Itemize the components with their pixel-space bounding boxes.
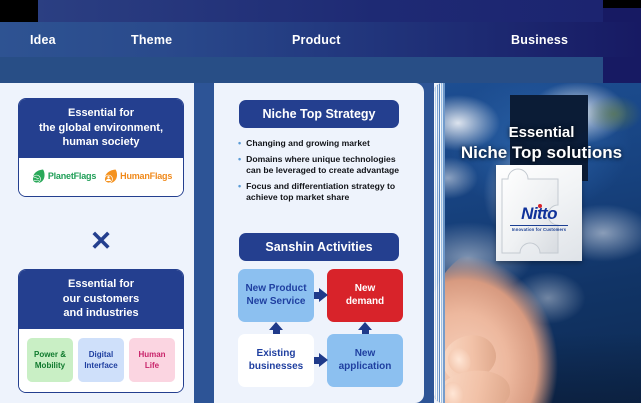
existing-line2: businesses (249, 361, 303, 372)
card-global-title-line3: human society (62, 136, 139, 148)
strategy-bullet-3: Focus and differentiation strategy to ac… (246, 181, 408, 204)
header-top-bar-right-accent (603, 8, 641, 22)
tag-digital-interface-line2: Interface (84, 361, 117, 370)
solutions-title: Essential Niche Top solutions (442, 123, 641, 163)
list-item: • Changing and growing market (238, 138, 408, 150)
card-essential-global-body: PlanetFlags (19, 158, 183, 196)
tag-power-mobility-line2: Mobility (35, 361, 65, 370)
slide-root: Idea Theme Product Business Essential fo… (0, 0, 641, 403)
new-product-line2: New Service (247, 296, 306, 307)
card-essential-global-header: Essential for the global environment, hu… (19, 99, 183, 158)
card-cust-title-line2: our customers (63, 293, 139, 305)
earth-image: Nitto Innovation for Customers Essential… (434, 83, 641, 403)
tag-human-life-line1: Human (138, 350, 165, 359)
nav-item-product-label: Product (292, 33, 341, 47)
new-application-line1: New (355, 348, 376, 359)
matrix-box-new-application: New application (327, 334, 403, 387)
card-global-title-line2: the global environment, (39, 122, 163, 134)
matrix-box-existing-businesses: Existing businesses (238, 334, 314, 387)
panel-solutions: Nitto Innovation for Customers Essential… (434, 83, 641, 403)
niche-top-strategy-pill: Niche Top Strategy (239, 100, 399, 128)
card-cust-title-line1: Essential for (68, 278, 134, 290)
nav-item-idea-label: Idea (30, 33, 56, 47)
nitto-tagline: Innovation for Customers (504, 227, 574, 232)
solutions-title-line1: Essential (442, 123, 641, 142)
segment-tags-row: Power & Mobility Digital Interface Human… (25, 336, 177, 385)
card-essential-customers-body: Power & Mobility Digital Interface Human… (19, 329, 183, 392)
new-demand-line1: New (355, 283, 376, 294)
multiply-symbol: ✕ (4, 228, 198, 255)
panel-idea: Essential for the global environment, hu… (4, 83, 194, 403)
nitto-logo: Nitto Innovation for Customers (504, 205, 574, 232)
niche-top-strategy-label: Niche Top Strategy (263, 107, 376, 121)
nav-item-business[interactable]: Business (511, 22, 568, 57)
tag-digital-interface-line1: Digital (89, 350, 113, 359)
strategy-bullet-list: • Changing and growing market • Domains … (238, 138, 408, 208)
planet-flag-icon (30, 168, 47, 185)
existing-line1: Existing (257, 348, 296, 359)
new-application-line2: application (339, 361, 392, 372)
panels-container: Essential for the global environment, hu… (0, 83, 641, 403)
nav-item-theme[interactable]: Theme (131, 22, 172, 57)
panel-strategy: Niche Top Strategy • Changing and growin… (214, 83, 424, 403)
solutions-title-line2: Niche Top solutions (442, 142, 641, 163)
puzzle-piece-nitto: Nitto Innovation for Customers (496, 165, 582, 261)
bullet-dot-icon: • (238, 154, 241, 177)
nav-item-business-label: Business (511, 33, 568, 47)
nav-item-idea[interactable]: Idea (30, 22, 56, 57)
tag-power-mobility[interactable]: Power & Mobility (27, 338, 73, 382)
strategy-bullet-2: Domains where unique technologies can be… (246, 154, 408, 177)
human-flags-label: HumanFlags (120, 171, 172, 181)
stage-navbar: Idea Theme Product Business (0, 22, 641, 57)
planet-flags-label: PlanetFlags (48, 171, 96, 181)
card-global-title-line1: Essential for (68, 107, 134, 119)
card-essential-global-environment: Essential for the global environment, hu… (18, 98, 184, 197)
card-essential-customers-header: Essential for our customers and industri… (19, 270, 183, 329)
new-demand-line2: demand (346, 296, 384, 307)
nitto-brand-text: Nitto (521, 205, 557, 222)
earth-left-edge-stripes (434, 83, 445, 403)
header-bottom-band-right-accent (603, 57, 641, 83)
human-flag-icon (102, 168, 119, 185)
tag-human-life[interactable]: Human Life (129, 338, 175, 382)
tag-power-mobility-line1: Power & (34, 350, 66, 359)
bullet-dot-icon: • (238, 181, 241, 204)
list-item: • Domains where unique technologies can … (238, 154, 408, 177)
matrix-box-new-product-new-service: New Product New Service (238, 269, 314, 322)
strategy-bullet-1: Changing and growing market (246, 138, 370, 150)
tag-human-life-line2: Life (145, 361, 159, 370)
nav-item-theme-label: Theme (131, 33, 172, 47)
flags-row: PlanetFlags (25, 165, 177, 189)
planet-flags-logo: PlanetFlags (30, 168, 96, 185)
header-top-bar (38, 0, 603, 22)
sanshin-matrix: New Product New Service New demand Exist… (238, 269, 403, 387)
sanshin-activities-pill: Sanshin Activities (239, 233, 399, 261)
card-essential-customers: Essential for our customers and industri… (18, 269, 184, 393)
sanshin-activities-label: Sanshin Activities (265, 240, 372, 254)
matrix-box-new-demand: New demand (327, 269, 403, 322)
list-item: • Focus and differentiation strategy to … (238, 181, 408, 204)
tag-digital-interface[interactable]: Digital Interface (78, 338, 124, 382)
human-flags-logo: HumanFlags (102, 168, 172, 185)
nav-item-product[interactable]: Product (292, 22, 341, 57)
new-product-line1: New Product (245, 283, 306, 294)
header-bottom-band (0, 57, 603, 83)
nitto-underline (510, 225, 568, 226)
bullet-dot-icon: • (238, 138, 241, 150)
card-cust-title-line3: and industries (63, 307, 138, 319)
